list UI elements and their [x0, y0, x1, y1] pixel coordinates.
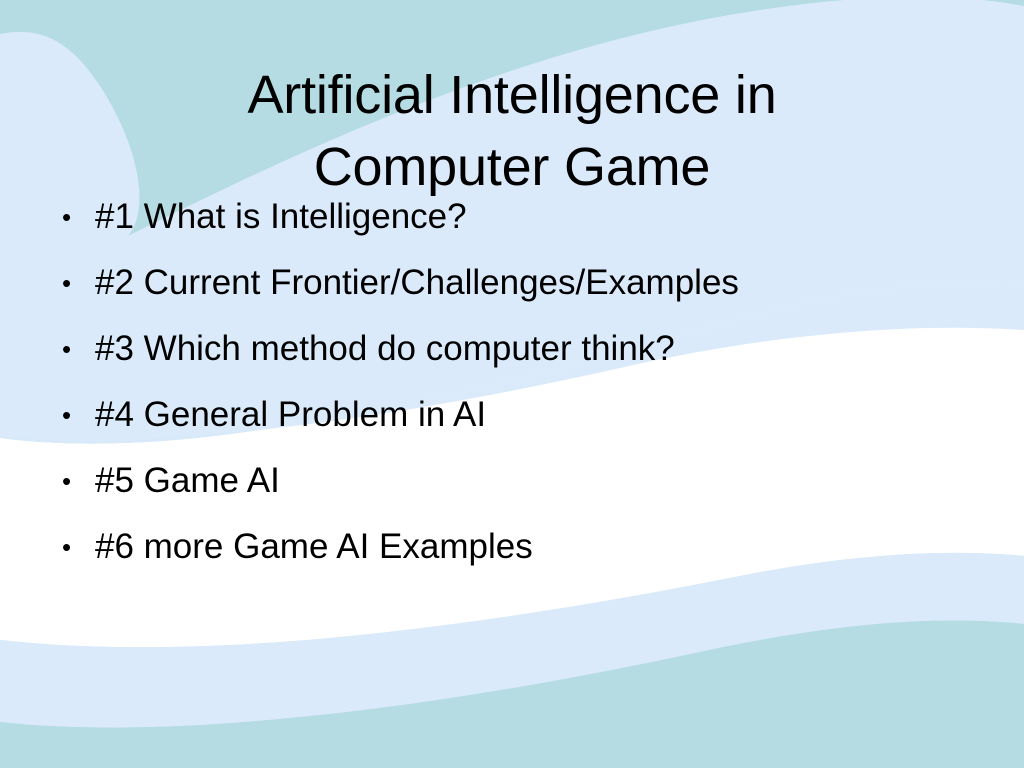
bullet-point-icon: •	[62, 514, 78, 580]
list-item: • #5 Game AI	[0, 448, 1024, 514]
list-item: • #3 Which method do computer think?	[0, 316, 1024, 382]
list-item-label: #1 What is Intelligence?	[95, 197, 467, 236]
list-item: • #6 more Game AI Examples	[0, 514, 1024, 580]
bullet-list: • #1 What is Intelligence? • #2 Current …	[0, 184, 1024, 580]
list-item-label: #6 more Game AI Examples	[95, 527, 533, 566]
bullet-point-icon: •	[62, 382, 78, 448]
bullet-point-icon: •	[62, 448, 78, 514]
slide-content: Artificial Intelligence in Computer Game…	[0, 0, 1024, 768]
list-item: • #1 What is Intelligence?	[0, 184, 1024, 250]
list-item-label: #2 Current Frontier/Challenges/Examples	[95, 263, 739, 302]
list-item-label: #4 General Problem in AI	[95, 395, 486, 434]
presentation-slide: Artificial Intelligence in Computer Game…	[0, 0, 1024, 768]
list-item: • #2 Current Frontier/Challenges/Example…	[0, 250, 1024, 316]
list-item-label: #5 Game AI	[95, 461, 280, 500]
bullet-point-icon: •	[62, 250, 78, 316]
list-item-label: #3 Which method do computer think?	[95, 329, 675, 368]
bullet-point-icon: •	[62, 316, 78, 382]
page-title: Artificial Intelligence in Computer Game	[62, 60, 962, 204]
list-item: • #4 General Problem in AI	[0, 382, 1024, 448]
bullet-point-icon: •	[62, 184, 78, 250]
